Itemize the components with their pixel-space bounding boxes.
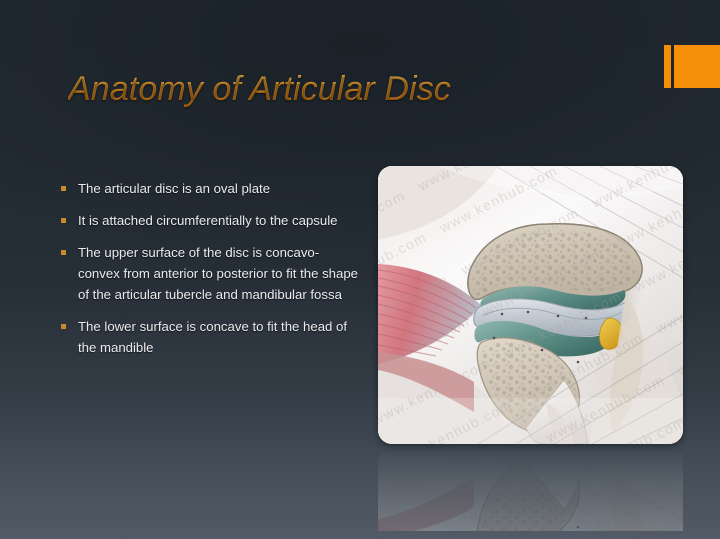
bullet-square-icon: [61, 218, 66, 223]
decoration-thin-bar: [664, 45, 671, 88]
slide-canvas: Anatomy of Articular Disc The articular …: [0, 0, 720, 539]
tmj-vector: [378, 445, 683, 531]
figure-container: www.kenhub.com www.kenhub.com www.kenhub…: [378, 166, 683, 444]
anatomy-image: www.kenhub.com www.kenhub.com www.kenhub…: [378, 166, 683, 444]
list-item: The lower surface is concave to fit the …: [58, 316, 358, 358]
anatomy-image-reflection: www.kenhub.com www.kenhub.com www.kenhub…: [378, 445, 683, 531]
tmj-illustration: www.kenhub.com www.kenhub.com www.kenhub…: [378, 166, 683, 444]
list-item: It is attached circumferentially to the …: [58, 210, 358, 231]
list-item-text: The articular disc is an oval plate: [78, 181, 270, 196]
list-item: The articular disc is an oval plate: [58, 178, 358, 199]
decoration-wide-bar: [674, 45, 720, 88]
orange-corner-decoration: [664, 45, 720, 88]
bullet-list: The articular disc is an oval plate It i…: [58, 178, 358, 369]
slide-title: Anatomy of Articular Disc: [68, 70, 451, 109]
bullet-square-icon: [61, 186, 66, 191]
tmj-illustration-mirror: www.kenhub.com www.kenhub.com www.kenhub…: [378, 445, 683, 531]
list-item: The upper surface of the disc is concavo…: [58, 242, 358, 305]
list-item-text: The lower surface is concave to fit the …: [78, 319, 347, 355]
list-item-text: The upper surface of the disc is concavo…: [78, 245, 358, 302]
tmj-vector: [378, 166, 683, 444]
bullet-square-icon: [61, 250, 66, 255]
bullet-square-icon: [61, 324, 66, 329]
list-item-text: It is attached circumferentially to the …: [78, 213, 337, 228]
